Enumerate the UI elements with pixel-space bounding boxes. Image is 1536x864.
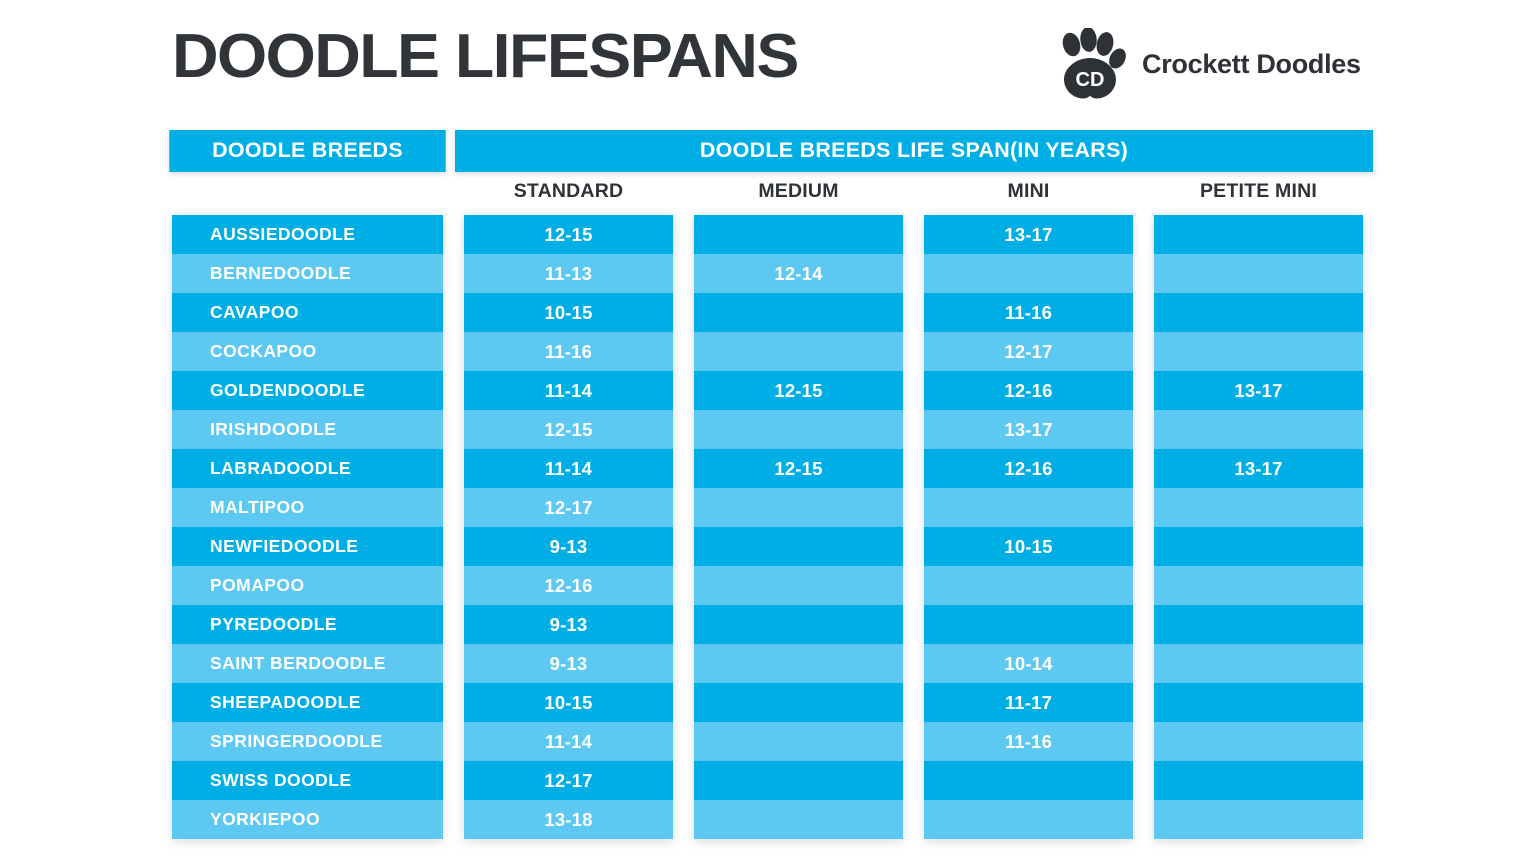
column-gap (673, 488, 694, 527)
column-gap (903, 722, 924, 761)
column-gap (443, 449, 464, 488)
lifespan-cell-mini (924, 761, 1133, 800)
lifespan-cell-petite-mini (1154, 683, 1363, 722)
table-row: BERNEDOODLE11-1312-14 (172, 254, 1364, 293)
column-gap (443, 332, 464, 371)
lifespan-cell-standard: 9-13 (464, 527, 673, 566)
table-row: SPRINGERDOODLE11-1411-16 (172, 722, 1364, 761)
lifespan-cell-mini (924, 605, 1133, 644)
column-gap (903, 605, 924, 644)
column-gap (1133, 215, 1154, 254)
breed-name-cell: LABRADOODLE (172, 449, 443, 488)
column-gap (443, 254, 464, 293)
breed-name-cell: GOLDENDOODLE (172, 371, 443, 410)
table-row: AUSSIEDOODLE12-1513-17 (172, 215, 1364, 254)
column-gap (903, 761, 924, 800)
lifespan-cell-petite-mini (1154, 254, 1363, 293)
column-gap (903, 800, 924, 839)
lifespan-cell-medium (694, 722, 903, 761)
column-gap (443, 293, 464, 332)
lifespan-cell-petite-mini (1154, 761, 1363, 800)
breed-name-cell: IRISHDOODLE (172, 410, 443, 449)
size-subheader-row: STANDARD MEDIUM MINI PETITE MINI (172, 172, 1364, 210)
lifespan-cell-petite-mini (1154, 566, 1363, 605)
lifespan-cell-standard: 12-15 (464, 410, 673, 449)
lifespan-cell-medium (694, 644, 903, 683)
lifespan-cell-mini: 12-16 (924, 449, 1133, 488)
lifespan-cell-standard: 11-14 (464, 722, 673, 761)
column-gap (1133, 527, 1154, 566)
table-row: NEWFIEDOODLE9-1310-15 (172, 527, 1364, 566)
lifespan-cell-medium (694, 410, 903, 449)
logo-monogram: CD (1076, 69, 1105, 91)
column-gap (903, 566, 924, 605)
column-gap (443, 761, 464, 800)
table-row: PYREDOODLE9-13 (172, 605, 1364, 644)
brand-logo: CD Crockett Doodles (1052, 28, 1361, 100)
column-gap (673, 332, 694, 371)
column-gap (1133, 371, 1154, 410)
lifespan-cell-petite-mini (1154, 215, 1363, 254)
lifespan-cell-medium (694, 761, 903, 800)
lifespan-cell-mini: 13-17 (924, 410, 1133, 449)
table-row: GOLDENDOODLE11-1412-1512-1613-17 (172, 371, 1364, 410)
lifespan-cell-mini: 11-16 (924, 293, 1133, 332)
column-gap (1133, 410, 1154, 449)
breed-name-cell: SAINT BERDOODLE (172, 644, 443, 683)
lifespan-cell-medium (694, 800, 903, 839)
lifespan-cell-mini (924, 254, 1133, 293)
column-gap (1133, 605, 1154, 644)
lifespan-cell-mini: 12-17 (924, 332, 1133, 371)
page-title: DOODLE LIFESPANS (172, 26, 798, 88)
lifespan-cell-standard: 11-16 (464, 332, 673, 371)
lifespan-cell-petite-mini (1154, 527, 1363, 566)
breed-name-cell: POMAPOO (172, 566, 443, 605)
column-gap (1133, 800, 1154, 839)
column-gap (443, 410, 464, 449)
lifespan-cell-standard: 9-13 (464, 644, 673, 683)
column-gap (673, 254, 694, 293)
lifespan-cell-petite-mini (1154, 644, 1363, 683)
lifespan-cell-petite-mini: 13-17 (1154, 449, 1363, 488)
column-gap (1133, 449, 1154, 488)
column-gap (1133, 761, 1154, 800)
column-gap (1133, 683, 1154, 722)
table-row: SAINT BERDOODLE9-1310-14 (172, 644, 1364, 683)
lifespan-cell-mini: 13-17 (924, 215, 1133, 254)
header-life-span: DOODLE BREEDS LIFE SPAN(IN YEARS) (455, 130, 1373, 172)
table-row: COCKAPOO11-1612-17 (172, 332, 1364, 371)
brand-name: Crockett Doodles (1142, 49, 1361, 80)
subheader-medium: MEDIUM (694, 180, 903, 203)
lifespan-cell-medium: 12-15 (694, 371, 903, 410)
lifespan-cell-standard: 9-13 (464, 605, 673, 644)
lifespan-cell-standard: 11-13 (464, 254, 673, 293)
column-gap (443, 605, 464, 644)
lifespan-cell-medium: 12-15 (694, 449, 903, 488)
lifespan-cell-petite-mini (1154, 293, 1363, 332)
breed-name-cell: CAVAPOO (172, 293, 443, 332)
breed-name-cell: SPRINGERDOODLE (172, 722, 443, 761)
paw-print-icon: CD (1052, 28, 1128, 100)
column-gap (673, 449, 694, 488)
lifespan-cell-standard: 11-14 (464, 371, 673, 410)
table-row: CAVAPOO10-1511-16 (172, 293, 1364, 332)
column-gap (443, 644, 464, 683)
column-gap (673, 800, 694, 839)
lifespan-cell-medium (694, 332, 903, 371)
column-gap (1133, 566, 1154, 605)
lifespan-cell-mini: 11-17 (924, 683, 1133, 722)
lifespan-cell-standard: 12-17 (464, 488, 673, 527)
lifespan-cell-medium (694, 488, 903, 527)
column-gap (673, 683, 694, 722)
table-row: MALTIPOO12-17 (172, 488, 1364, 527)
lifespan-cell-medium (694, 605, 903, 644)
column-gap (903, 410, 924, 449)
column-gap (443, 527, 464, 566)
lifespan-cell-petite-mini (1154, 722, 1363, 761)
lifespan-cell-medium (694, 566, 903, 605)
column-gap (443, 215, 464, 254)
lifespan-cell-petite-mini: 13-17 (1154, 371, 1363, 410)
lifespan-cell-standard: 12-16 (464, 566, 673, 605)
table-header-row: DOODLE BREEDS DOODLE BREEDS LIFE SPAN(IN… (172, 130, 1364, 172)
breed-name-cell: MALTIPOO (172, 488, 443, 527)
column-gap (443, 566, 464, 605)
lifespan-cell-standard: 12-17 (464, 761, 673, 800)
subheader-petite-mini: PETITE MINI (1154, 180, 1363, 203)
lifespan-cell-petite-mini (1154, 800, 1363, 839)
column-gap (903, 527, 924, 566)
lifespan-cell-mini (924, 800, 1133, 839)
column-gap (903, 488, 924, 527)
column-gap (903, 683, 924, 722)
column-gap (673, 215, 694, 254)
breed-name-cell: YORKIEPOO (172, 800, 443, 839)
header-doodle-breeds: DOODLE BREEDS (169, 130, 445, 172)
lifespan-cell-standard: 10-15 (464, 293, 673, 332)
column-gap (673, 371, 694, 410)
column-gap (1133, 722, 1154, 761)
lifespan-cell-medium (694, 293, 903, 332)
lifespan-cell-petite-mini (1154, 332, 1363, 371)
lifespan-cell-mini (924, 566, 1133, 605)
column-gap (1133, 293, 1154, 332)
lifespan-cell-standard: 11-14 (464, 449, 673, 488)
column-gap (443, 800, 464, 839)
column-gap (673, 293, 694, 332)
lifespan-cell-mini: 10-15 (924, 527, 1133, 566)
breed-name-cell: COCKAPOO (172, 332, 443, 371)
breed-name-cell: SWISS DOODLE (172, 761, 443, 800)
column-gap (903, 644, 924, 683)
breed-name-cell: PYREDOODLE (172, 605, 443, 644)
column-gap (673, 605, 694, 644)
lifespan-cell-medium (694, 527, 903, 566)
table-row: SWISS DOODLE12-17 (172, 761, 1364, 800)
column-gap (903, 293, 924, 332)
column-gap (673, 410, 694, 449)
lifespan-cell-petite-mini (1154, 488, 1363, 527)
infographic-page: DOODLE LIFESPANS CD Crockett Doodles DOO… (0, 0, 1536, 864)
column-gap (673, 527, 694, 566)
column-gap (903, 254, 924, 293)
lifespan-cell-standard: 12-15 (464, 215, 673, 254)
column-gap (673, 761, 694, 800)
table-row: SHEEPADOODLE10-1511-17 (172, 683, 1364, 722)
lifespan-cell-standard: 10-15 (464, 683, 673, 722)
lifespan-cell-mini: 12-16 (924, 371, 1133, 410)
subheader-standard: STANDARD (464, 180, 673, 203)
column-gap (903, 449, 924, 488)
breed-name-cell: AUSSIEDOODLE (172, 215, 443, 254)
table-row: YORKIEPOO13-18 (172, 800, 1364, 839)
column-gap (443, 722, 464, 761)
breed-name-cell: SHEEPADOODLE (172, 683, 443, 722)
breed-name-cell: BERNEDOODLE (172, 254, 443, 293)
lifespan-cell-mini (924, 488, 1133, 527)
lifespan-cell-petite-mini (1154, 410, 1363, 449)
header-bar: DOODLE LIFESPANS CD Crockett Doodles (0, 0, 1536, 125)
lifespan-cell-medium: 12-14 (694, 254, 903, 293)
column-gap (1133, 254, 1154, 293)
column-gap (903, 332, 924, 371)
lifespan-cell-petite-mini (1154, 605, 1363, 644)
table-row: POMAPOO12-16 (172, 566, 1364, 605)
lifespan-cell-standard: 13-18 (464, 800, 673, 839)
lifespan-cell-mini: 11-16 (924, 722, 1133, 761)
table-body: AUSSIEDOODLE12-1513-17BERNEDOODLE11-1312… (172, 215, 1364, 839)
column-gap (673, 722, 694, 761)
lifespan-cell-medium (694, 215, 903, 254)
column-gap (673, 644, 694, 683)
lifespan-cell-mini: 10-14 (924, 644, 1133, 683)
column-gap (443, 371, 464, 410)
lifespan-cell-medium (694, 683, 903, 722)
table-row: LABRADOODLE11-1412-1512-1613-17 (172, 449, 1364, 488)
table-row: IRISHDOODLE12-1513-17 (172, 410, 1364, 449)
column-gap (903, 215, 924, 254)
column-gap (1133, 488, 1154, 527)
subheader-mini: MINI (924, 180, 1133, 203)
breed-name-cell: NEWFIEDOODLE (172, 527, 443, 566)
column-gap (673, 566, 694, 605)
column-gap (1133, 332, 1154, 371)
column-gap (1133, 644, 1154, 683)
column-gap (443, 488, 464, 527)
column-gap (903, 371, 924, 410)
lifespan-table: DOODLE BREEDS DOODLE BREEDS LIFE SPAN(IN… (172, 130, 1364, 839)
column-gap (443, 683, 464, 722)
